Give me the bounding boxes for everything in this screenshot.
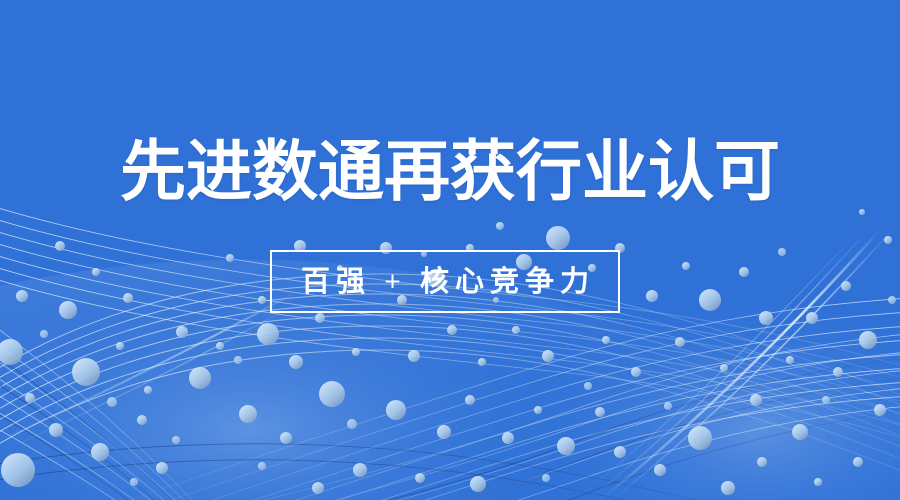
subtitle-text: 百强 + 核心竞争力 — [295, 267, 595, 297]
subtitle-badge: 百强 + 核心竞争力 — [270, 250, 620, 313]
banner-content: 先进数通再获行业认可 百强 + 核心竞争力 — [0, 0, 900, 500]
promo-banner: 先进数通再获行业认可 百强 + 核心竞争力 — [0, 0, 900, 500]
page-title: 先进数通再获行业认可 — [0, 136, 900, 210]
